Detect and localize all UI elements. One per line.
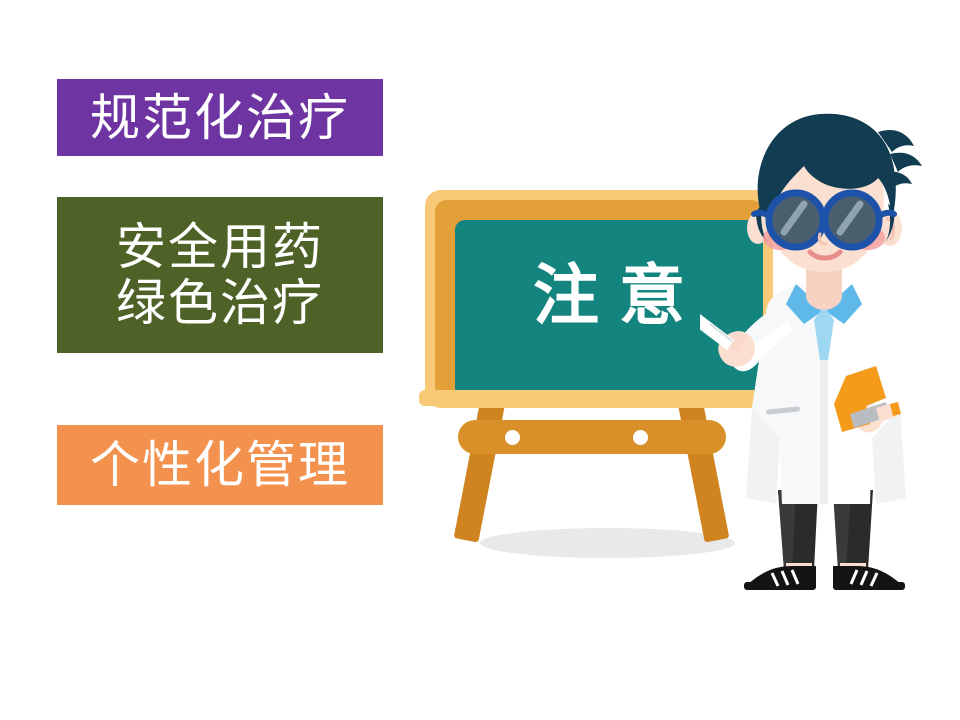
easel-crossbar [458,420,726,454]
label-line-text: 规范化治疗 [90,90,350,146]
doctor-shoes [744,566,905,590]
doctor-pointer [700,279,734,350]
label-box-standardized-treatment: 规范化治疗 [57,79,383,156]
label-box-personalized-management: 个性化管理 [57,425,383,505]
label-box-safe-medication: 安全用药 绿色治疗 [57,197,383,353]
floor-shadow [480,528,735,558]
label-line-text: 安全用药 [116,219,324,275]
label-line-text: 个性化管理 [90,437,350,493]
doctor-character [700,108,950,600]
label-line-text: 绿色治疗 [116,275,324,331]
doctor-head [747,114,922,272]
slide-canvas: 规范化治疗 安全用药 绿色治疗 个性化管理 注意 [0,0,960,720]
easel-bolt-right-icon [633,430,648,445]
easel-leg-left [454,386,508,543]
easel-bolt-left-icon [505,430,520,445]
